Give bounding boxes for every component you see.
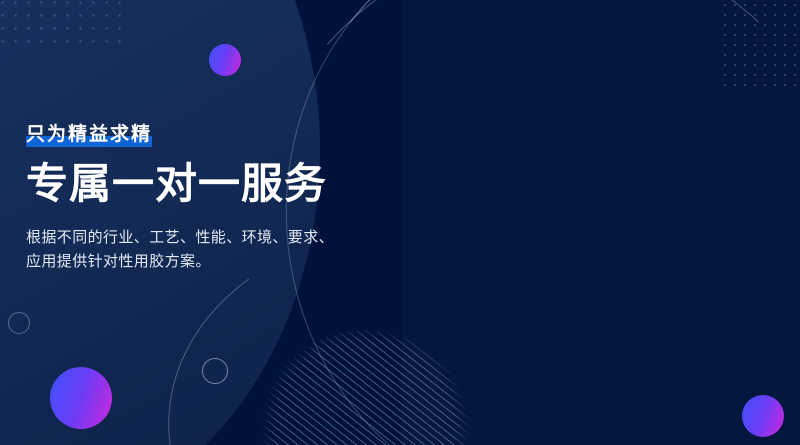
banner-description-line-2: 应用提供针对性用胶方案。 — [26, 250, 386, 274]
promo-banner: 就是 不努力就是淡季 — [0, 0, 800, 445]
outline-circle-small-icon — [8, 312, 30, 334]
banner-description: 根据不同的行业、工艺、性能、环境、要求、 应用提供针对性用胶方案。 — [26, 226, 386, 275]
banner-eyebrow: 只为精益求精 — [26, 122, 152, 148]
gradient-orb-left-icon — [50, 367, 112, 429]
outline-circle-icon — [202, 358, 228, 384]
gradient-orb-top-icon — [209, 44, 241, 76]
eyebrow-wrapper: 只为精益求精 — [26, 122, 152, 148]
banner-description-line-1: 根据不同的行业、工艺、性能、环境、要求、 — [26, 226, 386, 250]
banner-copy: 只为精益求精 专属一对一服务 根据不同的行业、工艺、性能、环境、要求、 应用提供… — [26, 122, 386, 274]
dot-grid-top-left-icon — [0, 0, 126, 48]
banner-headline: 专属一对一服务 — [26, 162, 386, 206]
gradient-orb-right-icon — [742, 395, 784, 437]
